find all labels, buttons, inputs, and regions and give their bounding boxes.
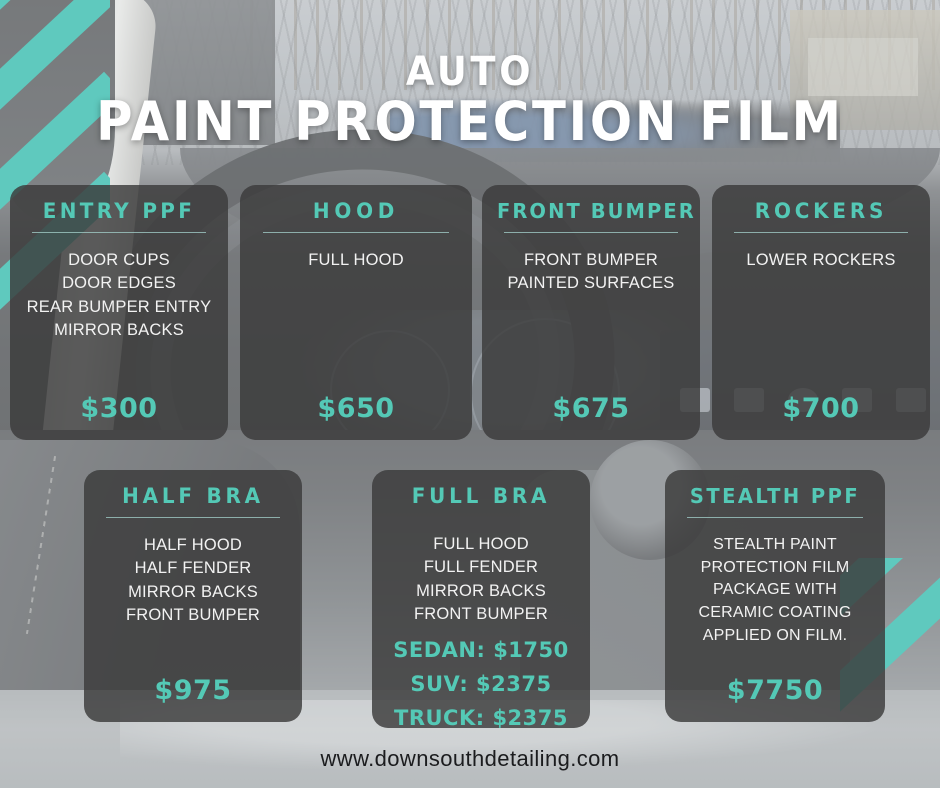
pricing-card-half-bra[interactable]: HALF BRA HALF HOOD HALF FENDER MIRROR BA… — [84, 470, 302, 722]
card-price-list: SEDAN: $1750 SUV: $2375 TRUCK: $2375 — [382, 633, 580, 735]
card-title: ROCKERS — [727, 199, 915, 223]
page-title: AUTO PAINT PROTECTION FILM — [0, 52, 940, 152]
card-feature-list: FULL HOOD FULL FENDER MIRROR BACKS FRONT… — [382, 533, 580, 627]
title-line-2: PAINT PROTECTION FILM — [38, 92, 903, 152]
card-feature-list: FRONT BUMPER PAINTED SURFACES — [492, 249, 690, 296]
card-price: $300 — [20, 393, 218, 424]
card-price: $700 — [722, 393, 920, 424]
card-divider — [106, 517, 280, 518]
card-divider — [687, 517, 863, 518]
list-item: HALF FENDER — [94, 557, 292, 580]
list-item: PROTECTION FILM — [675, 557, 875, 580]
list-item: CERAMIC COATING — [675, 602, 875, 625]
card-price-sedan: SEDAN: $1750 — [382, 633, 580, 667]
list-item: MIRROR BACKS — [94, 581, 292, 604]
list-item: STEALTH PAINT — [675, 534, 875, 557]
card-title: FULL BRA — [387, 484, 575, 508]
footer: www.downsouthdetailing.com — [0, 746, 940, 772]
pricing-card-rockers[interactable]: ROCKERS LOWER ROCKERS $700 — [712, 185, 930, 440]
list-item: DOOR EDGES — [20, 272, 218, 295]
card-divider — [32, 232, 206, 233]
pricing-card-stealth-ppf[interactable]: STEALTH PPF STEALTH PAINT PROTECTION FIL… — [665, 470, 885, 722]
list-item: FRONT BUMPER — [94, 604, 292, 627]
card-price: $650 — [250, 393, 462, 424]
list-item: FULL FENDER — [382, 556, 580, 579]
card-divider — [263, 232, 450, 233]
list-item: FRONT BUMPER — [382, 603, 580, 626]
card-feature-list: HALF HOOD HALF FENDER MIRROR BACKS FRONT… — [94, 534, 292, 628]
list-item: MIRROR BACKS — [20, 319, 218, 342]
website-url[interactable]: www.downsouthdetailing.com — [321, 746, 620, 771]
list-item: FRONT BUMPER — [492, 249, 690, 272]
list-item: REAR BUMPER ENTRY — [20, 296, 218, 319]
card-divider — [734, 232, 908, 233]
list-item: FULL HOOD — [250, 249, 462, 272]
list-item: PAINTED SURFACES — [492, 272, 690, 295]
pricing-card-front-bumper[interactable]: FRONT BUMPER FRONT BUMPER PAINTED SURFAC… — [482, 185, 700, 440]
card-title: ENTRY PPF — [25, 199, 213, 223]
card-price-truck: TRUCK: $2375 — [382, 701, 580, 735]
title-line-1: AUTO — [38, 52, 903, 92]
card-divider — [504, 232, 678, 233]
card-price-suv: SUV: $2375 — [382, 667, 580, 701]
card-title: FRONT BUMPER — [497, 199, 685, 223]
card-feature-list: STEALTH PAINT PROTECTION FILM PACKAGE WI… — [675, 534, 875, 648]
list-item: DOOR CUPS — [20, 249, 218, 272]
pricing-card-entry-ppf[interactable]: ENTRY PPF DOOR CUPS DOOR EDGES REAR BUMP… — [10, 185, 228, 440]
list-item: HALF HOOD — [94, 534, 292, 557]
card-price: $675 — [492, 393, 690, 424]
list-item: PACKAGE WITH — [675, 579, 875, 602]
pricing-card-full-bra[interactable]: FULL BRA FULL HOOD FULL FENDER MIRROR BA… — [372, 470, 590, 728]
list-item: FULL HOOD — [382, 533, 580, 556]
card-price: $975 — [94, 675, 292, 706]
list-item: APPLIED ON FILM. — [675, 625, 875, 648]
card-title: HOOD — [255, 199, 456, 223]
card-title: HALF BRA — [99, 484, 287, 508]
list-item: MIRROR BACKS — [382, 580, 580, 603]
card-feature-list: FULL HOOD — [250, 249, 462, 272]
list-item: LOWER ROCKERS — [722, 249, 920, 272]
card-price: $7750 — [675, 675, 875, 706]
card-title: STEALTH PPF — [680, 484, 870, 508]
card-feature-list: DOOR CUPS DOOR EDGES REAR BUMPER ENTRY M… — [20, 249, 218, 343]
pricing-card-hood[interactable]: HOOD FULL HOOD $650 — [240, 185, 472, 440]
card-feature-list: LOWER ROCKERS — [722, 249, 920, 272]
